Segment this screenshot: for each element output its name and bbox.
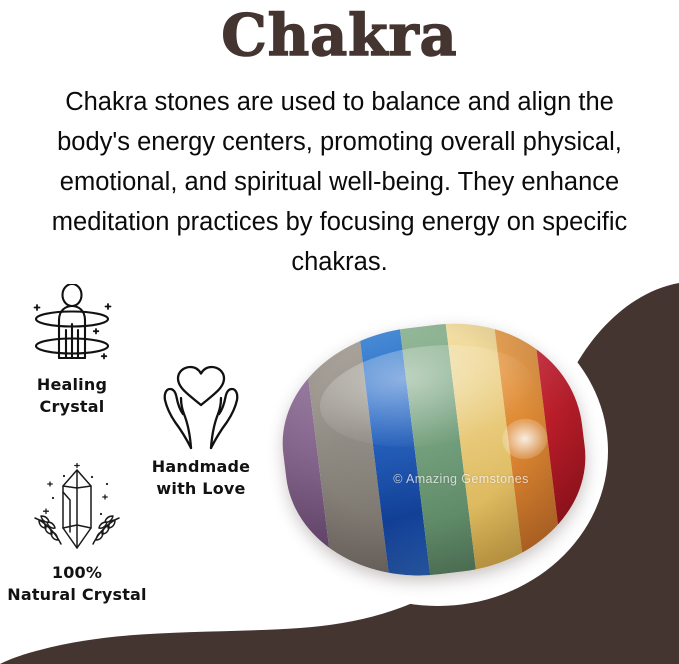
- badge-label: Healing Crystal: [8, 374, 136, 418]
- stone-color-bands: [270, 309, 598, 592]
- healing-figure-aura-icon: [8, 284, 136, 370]
- badge-label: Handmade with Love: [136, 456, 266, 500]
- hands-holding-heart-icon: [136, 364, 266, 452]
- badge-label: 100% Natural Crystal: [2, 562, 152, 606]
- infographic-page: Chakra Chakra stones are used to balance…: [0, 0, 679, 664]
- product-photo: © Amazing Gemstones: [268, 296, 608, 606]
- badge-natural-crystal: 100% Natural Crystal: [2, 462, 152, 606]
- badge-handmade-with-love: Handmade with Love: [136, 364, 266, 500]
- description-paragraph: Chakra stones are used to balance and al…: [26, 82, 653, 282]
- crystal-point-laurel-icon: [2, 462, 152, 558]
- page-title: Chakra: [0, 2, 679, 70]
- chakra-stone-image: [270, 309, 598, 592]
- badge-healing-crystal: Healing Crystal: [8, 284, 136, 418]
